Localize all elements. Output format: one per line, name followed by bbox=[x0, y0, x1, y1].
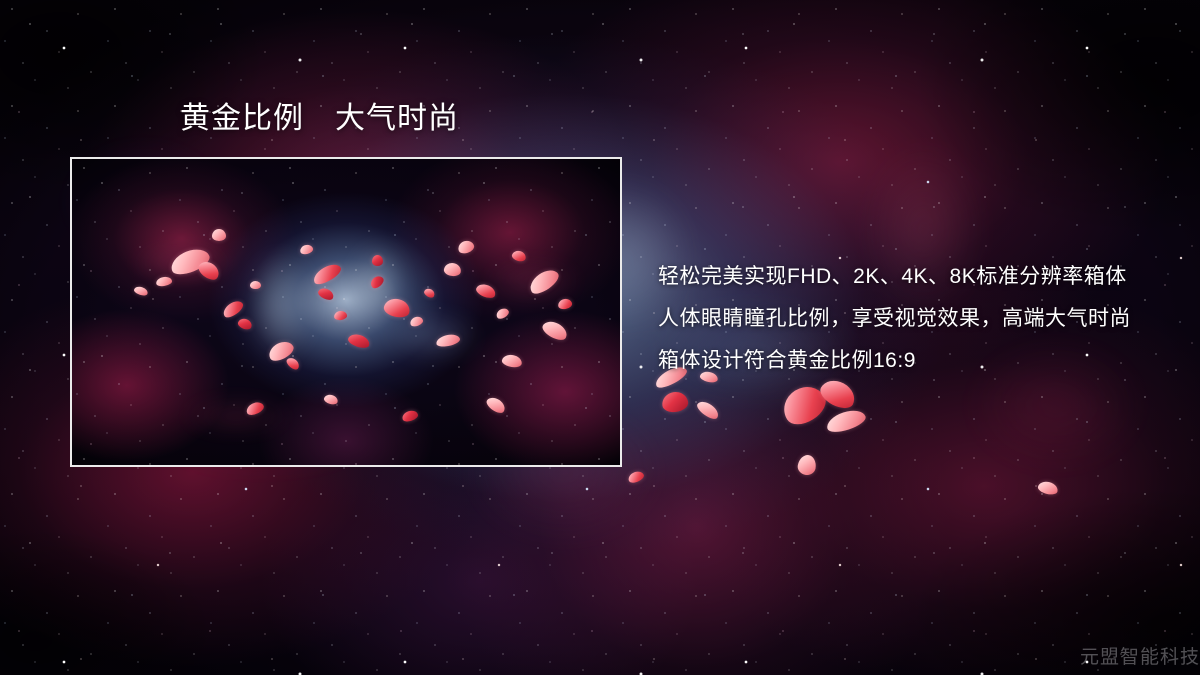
body-line-3: 箱体设计符合黄金比例16:9 bbox=[658, 340, 1158, 382]
framed-image bbox=[70, 157, 622, 467]
petal-shape bbox=[695, 398, 722, 422]
watermark-label: 元盟智能科技 bbox=[1080, 642, 1200, 669]
petal-shape bbox=[627, 469, 646, 484]
slide-canvas: 黄金比例 大气时尚 轻松完美实现FHD、2K、4K、8K标准分辨率箱体 人体眼睛… bbox=[0, 0, 1200, 675]
petal-shape bbox=[661, 390, 690, 413]
petal-shape bbox=[776, 379, 831, 431]
body-line-1: 轻松完美实现FHD、2K、4K、8K标准分辨率箱体 bbox=[658, 256, 1158, 298]
petal-shape bbox=[824, 406, 868, 435]
body-line-2: 人体眼睛瞳孔比例，享受视觉效果，高端大气时尚 bbox=[658, 298, 1158, 340]
petal-shape bbox=[1037, 480, 1059, 496]
body-text-block: 轻松完美实现FHD、2K、4K、8K标准分辨率箱体 人体眼睛瞳孔比例，享受视觉效… bbox=[658, 256, 1158, 382]
page-title: 黄金比例 大气时尚 bbox=[180, 102, 459, 135]
frame-nebula-wisps bbox=[72, 159, 620, 465]
petal-shape bbox=[796, 454, 817, 477]
